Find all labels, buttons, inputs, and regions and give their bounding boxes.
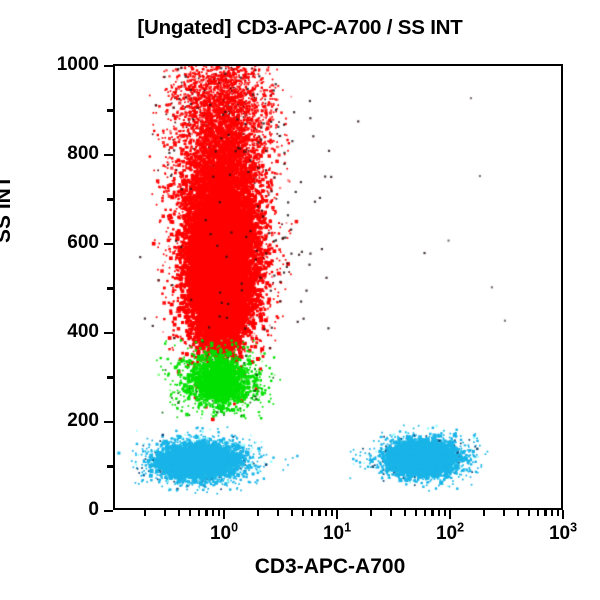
y-tick-major	[104, 243, 113, 246]
x-tick-minor	[438, 510, 441, 516]
page-title: [Ungated] CD3-APC-A700 / SS INT	[0, 16, 600, 40]
y-tick-major	[104, 154, 113, 157]
flow-cytometry-figure: [Ungated] CD3-APC-A700 / SS INT 02004006…	[0, 0, 600, 600]
x-tick-minor	[544, 510, 547, 516]
y-tick-minor	[107, 287, 113, 290]
y-tick-minor	[107, 376, 113, 379]
x-tick-minor	[415, 510, 418, 516]
x-tick-minor	[444, 510, 447, 516]
x-tick-minor	[198, 510, 201, 516]
x-tick-minor	[257, 510, 260, 516]
x-tick-major	[336, 510, 339, 519]
x-tick-minor	[218, 510, 221, 516]
plot-area[interactable]	[113, 64, 563, 510]
x-tick-minor	[277, 510, 280, 516]
x-tick-minor	[189, 510, 192, 516]
x-tick-minor	[424, 510, 427, 516]
x-tick-minor	[302, 510, 305, 516]
y-tick-major	[104, 65, 113, 68]
y-tick-label: 800	[19, 143, 99, 165]
x-tick-major	[562, 510, 565, 519]
x-tick-minor	[517, 510, 520, 516]
y-tick-label: 0	[19, 499, 99, 521]
x-tick-minor	[557, 510, 560, 516]
x-tick-minor	[551, 510, 554, 516]
y-tick-major	[104, 421, 113, 424]
x-tick-label: 101	[297, 523, 377, 545]
x-tick-major	[449, 510, 452, 519]
x-tick-minor	[503, 510, 506, 516]
x-tick-minor	[318, 510, 321, 516]
x-tick-minor	[325, 510, 328, 516]
x-tick-minor	[404, 510, 407, 516]
x-tick-label: 100	[184, 523, 264, 545]
x-axis-title: CD3-APC-A700	[0, 555, 600, 579]
x-tick-minor	[291, 510, 294, 516]
x-tick-minor	[537, 510, 540, 516]
y-tick-minor	[107, 198, 113, 201]
x-tick-minor	[483, 510, 486, 516]
x-tick-minor	[370, 510, 373, 516]
x-tick-minor	[331, 510, 334, 516]
x-tick-minor	[431, 510, 434, 516]
x-tick-label: 103	[523, 523, 600, 545]
x-tick-minor	[212, 510, 215, 516]
x-tick-minor	[178, 510, 181, 516]
y-tick-label: 1000	[19, 54, 99, 76]
scatter-plot-canvas	[115, 66, 561, 508]
x-tick-major	[223, 510, 226, 519]
x-tick-minor	[528, 510, 531, 516]
y-axis-title: SS INT	[0, 175, 16, 243]
x-tick-label: 102	[410, 523, 490, 545]
y-tick-label: 600	[19, 232, 99, 254]
y-tick-minor	[107, 465, 113, 468]
y-tick-minor	[107, 109, 113, 112]
x-tick-minor	[390, 510, 393, 516]
y-tick-major	[104, 332, 113, 335]
x-tick-minor	[205, 510, 208, 516]
x-tick-minor	[144, 510, 147, 516]
y-tick-label: 200	[19, 410, 99, 432]
y-tick-label: 400	[19, 321, 99, 343]
y-tick-major	[104, 510, 113, 513]
x-tick-minor	[164, 510, 167, 516]
x-tick-minor	[311, 510, 314, 516]
